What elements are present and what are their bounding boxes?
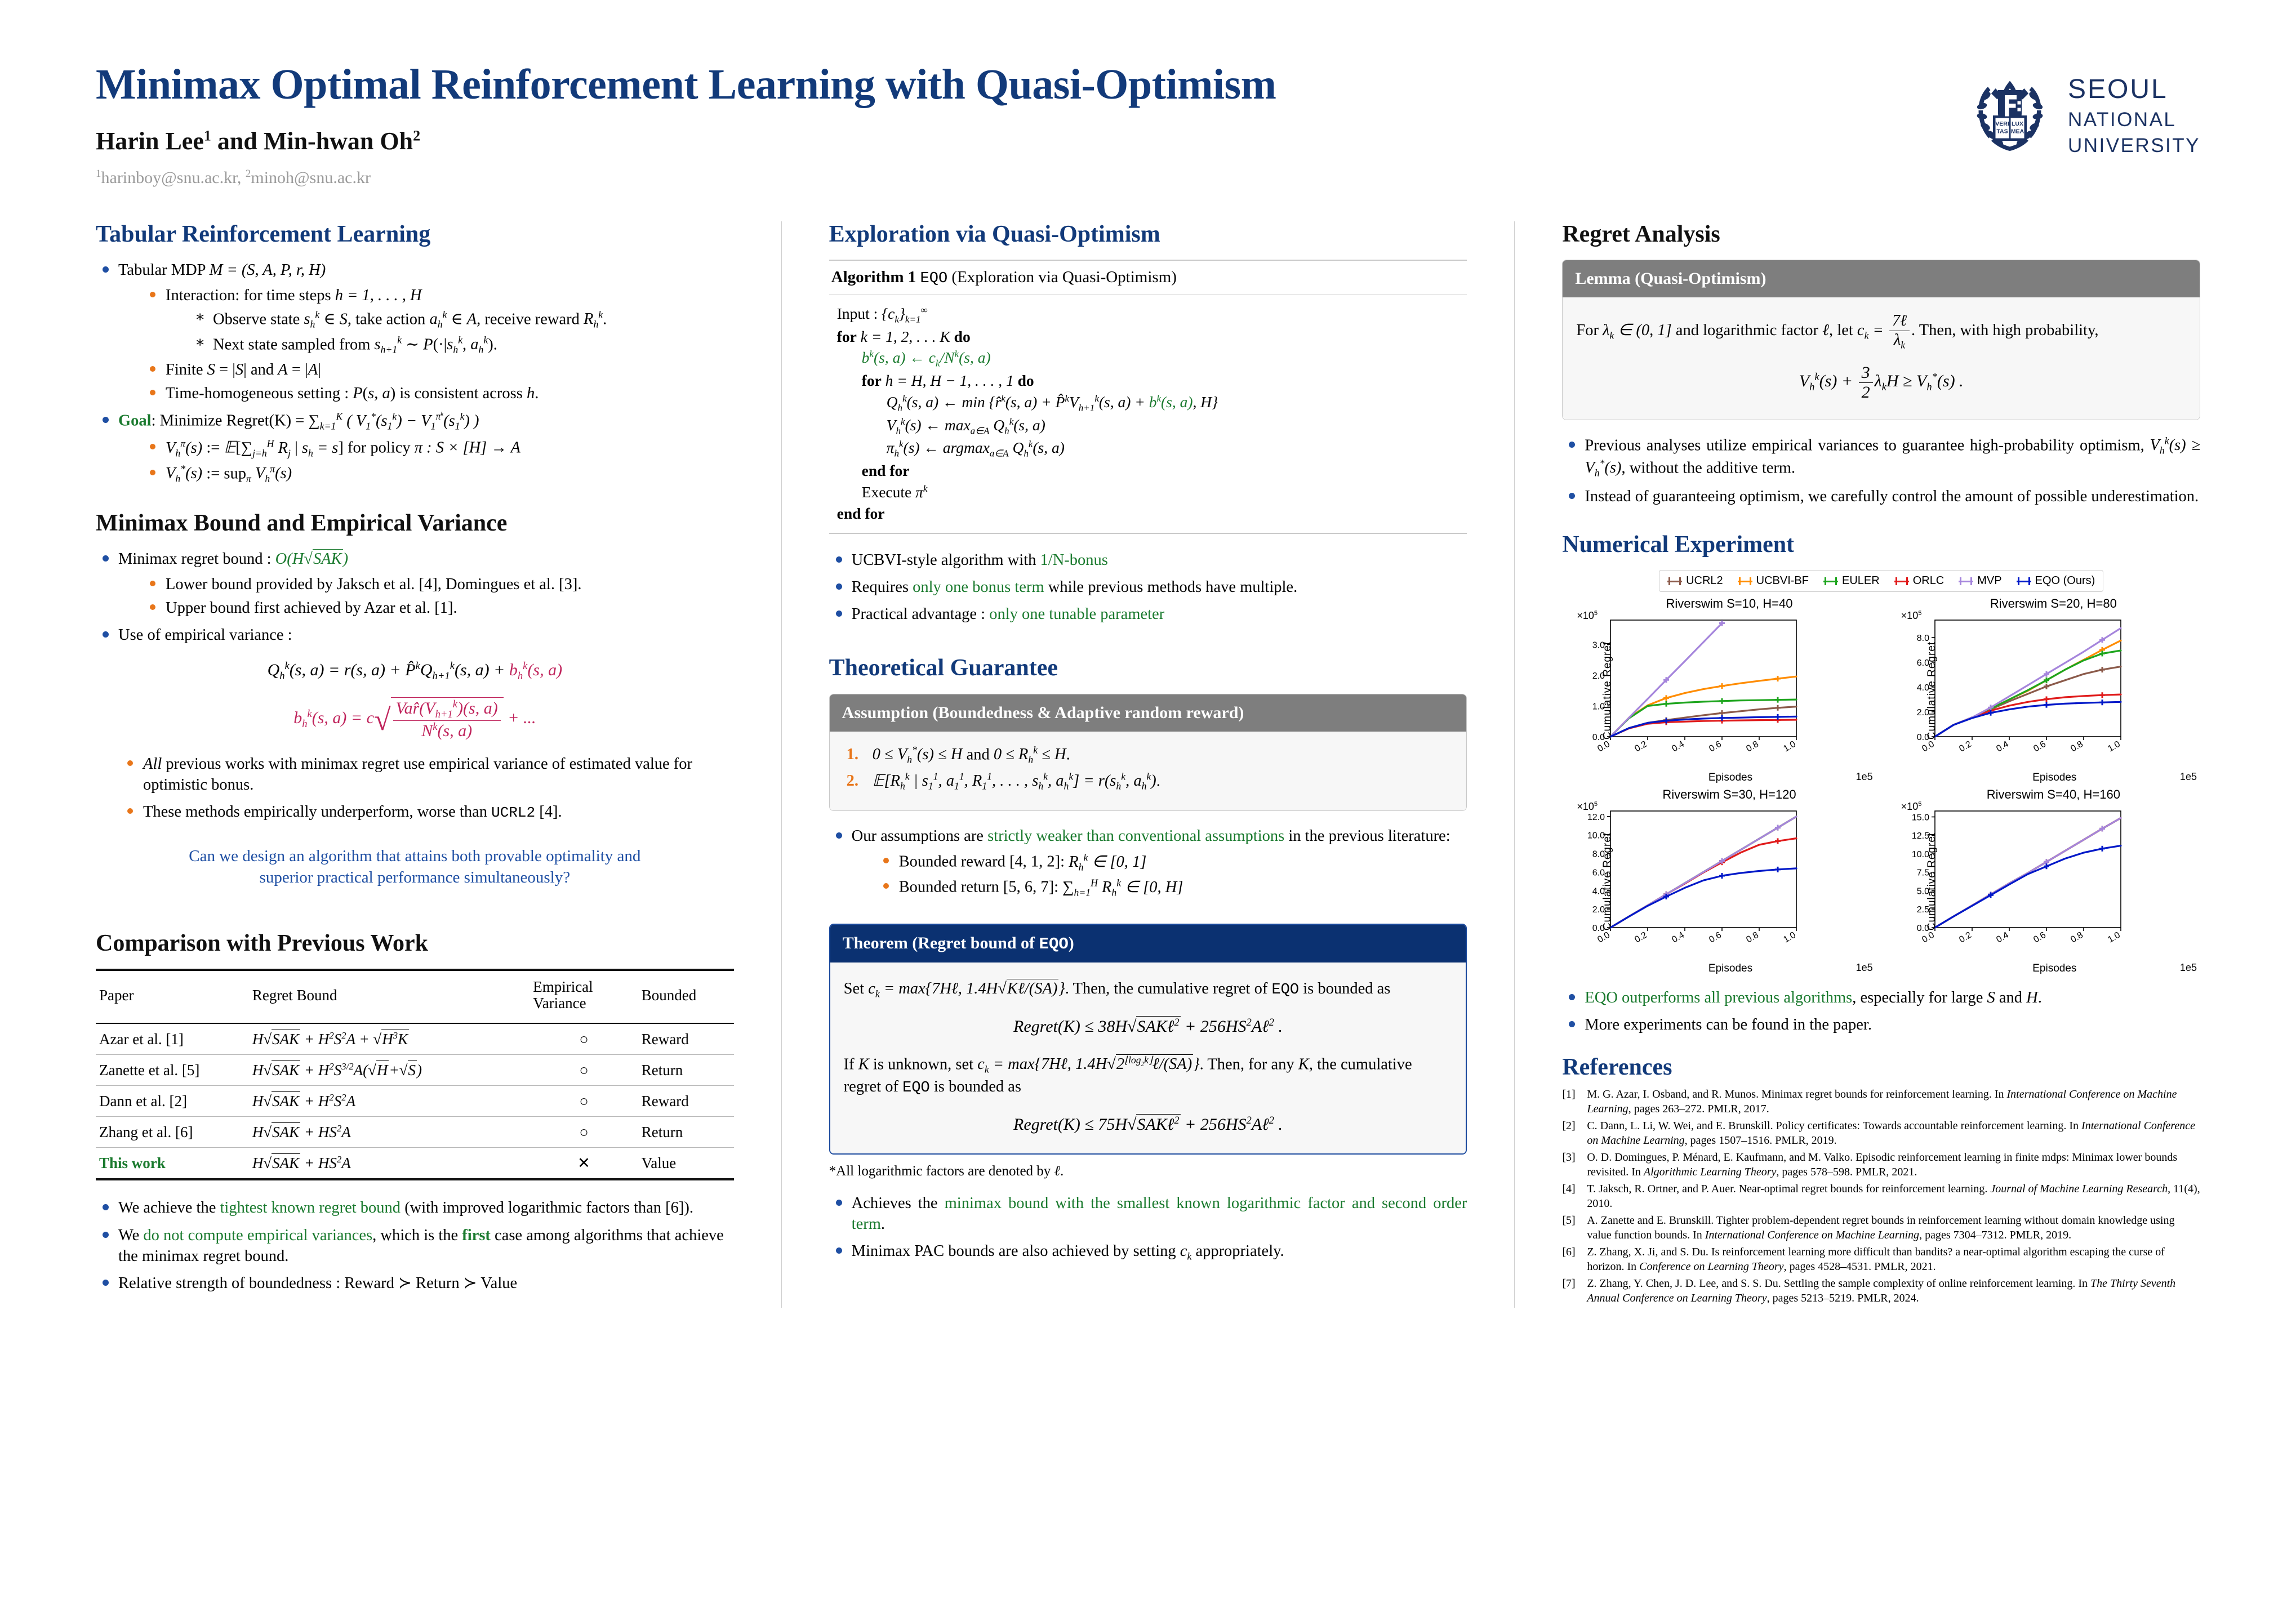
section-regret-analysis-title: Regret Analysis [1562, 221, 2200, 247]
author-1-sup: 1 [204, 127, 211, 144]
list-item: All previous works with minimax regret u… [121, 754, 734, 795]
theorem-box: Theorem (Regret bound of EQO) Set ck = m… [829, 924, 1467, 1154]
algorithm-body: Input : {ck}k=1∞ for k = 1, 2, . . . K d… [829, 295, 1467, 533]
svg-text:0.8: 0.8 [1745, 930, 1761, 945]
theorem-notes: Achieves the minimax bound with the smal… [829, 1193, 1467, 1263]
reference-tail: , pages 263–272. PMLR, 2017. [1628, 1103, 1769, 1115]
experiment-charts: UCRL2UCBVI-BFEULERORLCMVPEQO (Ours) Rive… [1562, 570, 2200, 975]
alg-line-for-k: for k = 1, 2, . . . K do [837, 326, 1465, 347]
legend-swatch-icon [1894, 576, 1909, 586]
references-list: [1]M. G. Azar, I. Osband, and R. Munos. … [1562, 1087, 2200, 1305]
legend-item-orlc: ORLC [1894, 574, 1945, 587]
chart-4: Riverswim S=40, H=160×105Cumulative Regr… [1886, 787, 2200, 975]
chart-legend: UCRL2UCBVI-BFEULERORLCMVPEQO (Ours) [1659, 570, 2103, 592]
chart-canvas: 0.00.20.40.60.81.00.01.02.03.0 [1562, 611, 1804, 772]
reference-text: Z. Zhang, Y. Chen, J. D. Lee, and S. S. … [1587, 1277, 2090, 1290]
chart-y-label: Cumulative Regret [1602, 832, 1614, 930]
reference-tail: , pages 578–598. PMLR, 2021. [1776, 1166, 1917, 1178]
alg-line-pi: πhk(s) ← argmaxa∈A Qhk(s, a) [837, 437, 1465, 460]
svg-text:0.8: 0.8 [1745, 739, 1761, 754]
chart-2: Riverswim S=20, H=80×105Cumulative Regre… [1886, 596, 2200, 784]
svg-text:0.4: 0.4 [1995, 739, 2010, 754]
interaction-sublist: Interaction: for time steps h = 1, . . .… [143, 285, 734, 404]
list-item: Instead of guaranteeing optimism, we car… [1562, 486, 2200, 507]
lemma-equation: Vhk(s) + 32λkH ≥ Vh*(s) . [1576, 363, 2186, 403]
cell-bounded: Return [638, 1117, 734, 1148]
svg-text:1.0: 1.0 [2106, 930, 2122, 945]
reference-tail: , pages 7304–7312. PMLR, 2019. [1919, 1229, 2071, 1241]
svg-text:VERI: VERI [1995, 121, 2009, 127]
reference-item: [1]M. G. Azar, I. Osband, and R. Munos. … [1562, 1087, 2200, 1116]
chart-canvas: 0.00.20.40.60.81.00.02.55.07.510.012.515… [1886, 802, 2129, 962]
lemma-header: Lemma (Quasi-Optimism) [1563, 260, 2200, 297]
table-header: Paper Regret Bound EmpiricalVariance Bou… [96, 970, 734, 1023]
list-item: Finite S = |S| and A = |A| [143, 359, 734, 380]
chart-title: Riverswim S=30, H=120 [1582, 787, 1876, 802]
legend-item-euler: EULER [1823, 574, 1880, 587]
svg-text:0.4: 0.4 [1671, 930, 1687, 945]
q-update-equation: Qhk(s, a) = r(s, a) + P̂kQh+1k(s, a) + b… [96, 660, 734, 683]
assumption-header: Assumption (Boundedness & Adaptive rando… [830, 694, 1467, 732]
svg-text:0.6: 0.6 [2032, 739, 2048, 754]
alg-line-q: Qhk(s, a) ← min {r̂k(s, a) + P̂kVh+1k(s,… [837, 391, 1465, 415]
snu-logo: VERITAS LUXMEA SEOUL NATIONAL UNIVERSITY [1968, 62, 2200, 158]
column-divider-1 [781, 221, 782, 1308]
legend-label: UCBVI-BF [1756, 574, 1809, 587]
chart-y-exponent: ×105 [1577, 801, 1598, 813]
email-1-sup: 1 [96, 168, 101, 180]
alg-line-execute: Execute πk [837, 482, 1465, 503]
chart-x-label: Episodes [1585, 772, 1876, 784]
svg-text:0.8: 0.8 [2069, 930, 2085, 945]
author-1: Harin Lee [96, 127, 204, 155]
mdp-formula: M = (S, A, P, r, H) [210, 261, 326, 279]
legend-label: EQO (Ours) [2035, 574, 2095, 587]
chart-canvas: 0.00.20.40.60.81.00.02.04.06.08.0 [1886, 611, 2129, 772]
logo-line-1: SEOUL [2068, 72, 2200, 107]
chart-x-exponent: 1e5 [1856, 962, 1873, 974]
lemma-box: Lemma (Quasi-Optimism) For λk ∈ (0, 1] a… [1562, 260, 2200, 420]
email-line: 1harinboy@snu.ac.kr, 2minoh@snu.ac.kr [96, 168, 1968, 188]
list-item: Minimax regret bound : O(H√SAK) Lower bo… [96, 549, 734, 618]
list-item: 2.𝔼[Rhk | s11, a11, R11, . . . , shk, ah… [843, 770, 1453, 793]
cell-variance: ○ [529, 1023, 638, 1055]
reference-venue: Algorithmic Learning Theory [1644, 1166, 1777, 1178]
list-item: EQO outperforms all previous algorithms,… [1562, 987, 2200, 1008]
lemma-paragraph: For λk ∈ (0, 1] and logarithmic factor ℓ… [1576, 312, 2186, 351]
theorem-equation-2: Regret(K) ≤ 75H√SAKℓ2 + 256HS2Aℓ2 . [844, 1113, 1453, 1137]
algorithm-title: Algorithm 1 EQO (Exploration via Quasi-O… [829, 261, 1467, 295]
table-row: Dann et al. [2] H√SAK + H2S2A ○ Reward [96, 1086, 734, 1117]
list-item: Our assumptions are strictly weaker than… [829, 826, 1467, 899]
list-item: Practical advantage : only one tunable p… [829, 604, 1467, 625]
reference-tail: , pages 5213–5219. PMLR, 2024. [1767, 1292, 1919, 1304]
table-row: Zanette et al. [5] H√SAK + H2S3/2A(√H+√S… [96, 1055, 734, 1086]
chart-y-exponent: ×105 [1901, 801, 1922, 813]
column-1: Tabular Reinforcement Learning Tabular M… [96, 221, 734, 1308]
svg-text:1.0: 1.0 [2106, 739, 2122, 754]
lemma-body: For λk ∈ (0, 1] and logarithmic factor ℓ… [1563, 297, 2200, 420]
svg-text:0.2: 0.2 [1957, 930, 1973, 945]
table-body: Azar et al. [1] H√SAK + H2S2A + √H3K ○ R… [96, 1023, 734, 1179]
list-item-goal: Goal: Minimize Regret(K) = ∑k=1K ( V1*(s… [96, 410, 734, 485]
minimax-sublist: Lower bound provided by Jaksch et al. [4… [143, 574, 734, 618]
reference-item: [3]O. D. Domingues, P. Ménard, E. Kaufma… [1562, 1150, 2200, 1179]
reference-text: T. Jaksch, R. Ortner, and P. Auer. Near-… [1587, 1183, 1990, 1195]
reference-venue: Journal of Machine Learning Research [1990, 1183, 2168, 1195]
list-item: Tabular MDP M = (S, A, P, r, H) Interact… [96, 260, 734, 404]
th-empirical-variance: EmpiricalVariance [529, 970, 638, 1023]
algorithm-desc: (Exploration via Quasi-Optimism) [947, 268, 1177, 286]
theorem-footnote: *All logarithmic factors are denoted by … [829, 1164, 1467, 1179]
list-item: Bounded reward [4, 1, 2]: Rhk ∈ [0, 1] [876, 851, 1467, 874]
cell-paper: Azar et al. [1] [96, 1023, 249, 1055]
alg-line-endfor-inner: end for [837, 460, 1465, 482]
algorithm-label: Algorithm 1 [831, 268, 916, 286]
chart-x-exponent: 1e5 [1856, 771, 1873, 783]
theorem-paragraph-2: If K is unknown, set ck = max{7Hℓ, 1.4H√… [844, 1053, 1453, 1099]
list-item: Relative strength of boundedness : Rewar… [96, 1273, 734, 1294]
list-item: Upper bound first achieved by Azar et al… [143, 598, 734, 618]
svg-text:LUX: LUX [2012, 121, 2023, 127]
comparison-table: Paper Regret Bound EmpiricalVariance Bou… [96, 969, 734, 1180]
reference-item: [6]Z. Zhang, X. Ji, and S. Du. Is reinfo… [1562, 1245, 2200, 1274]
assumption-box: Assumption (Boundedness & Adaptive rando… [829, 694, 1467, 811]
theorem-header: Theorem (Regret bound of EQO) [830, 925, 1466, 962]
list-item: Interaction: for time steps h = 1, . . .… [143, 285, 734, 357]
chart-title: Riverswim S=10, H=40 [1582, 596, 1876, 611]
chart-x-label: Episodes [1585, 962, 1876, 975]
alg-line-v: Vhk(s) ← maxa∈A Qhk(s, a) [837, 415, 1465, 438]
reference-item: [7]Z. Zhang, Y. Chen, J. D. Lee, and S. … [1562, 1276, 2200, 1305]
chart-1: Riverswim S=10, H=40×105Cumulative Regre… [1562, 596, 1876, 784]
table-row: Zhang et al. [6] H√SAK + HS2A ○ Return [96, 1117, 734, 1148]
reference-tag: [6] [1562, 1245, 1575, 1259]
theorem-paragraph-1: Set ck = max{7Hℓ, 1.4H√Kℓ/(SA)}. Then, t… [844, 978, 1453, 1001]
cell-paper: Zanette et al. [5] [96, 1055, 249, 1086]
legend-swatch-icon [2017, 576, 2031, 586]
svg-text:0.6: 0.6 [1708, 739, 1724, 754]
cell-bound: H√SAK + H2S2A [249, 1086, 529, 1117]
reference-item: [2]C. Dann, L. Li, W. Wei, and E. Brunsk… [1562, 1119, 2200, 1148]
logo-line-2: NATIONAL [2068, 107, 2200, 133]
table-row-highlight: This work H√SAK + HS2A ✕ Value [96, 1148, 734, 1180]
chart-title: Riverswim S=40, H=160 [1907, 787, 2200, 802]
research-question-line-1: Can we design an algorithm that attains … [115, 845, 715, 867]
svg-text:12.0: 12.0 [1587, 813, 1605, 822]
poster-root: Minimax Optimal Reinforcement Learning w… [0, 0, 2296, 1622]
reference-tag: [5] [1562, 1213, 1575, 1228]
cell-bound: H√SAK + H2S3/2A(√H+√S) [249, 1055, 529, 1086]
svg-text:1.0: 1.0 [1782, 930, 1798, 945]
empirical-variance-equations: Qhk(s, a) = r(s, a) + P̂kQh+1k(s, a) + b… [96, 660, 734, 741]
assumption-list: 1.0 ≤ Vh*(s) ≤ H and 0 ≤ Rhk ≤ H. 2.𝔼[Rh… [843, 744, 1453, 793]
research-question: Can we design an algorithm that attains … [115, 845, 715, 889]
poster-columns: Tabular Reinforcement Learning Tabular M… [96, 221, 2200, 1308]
goal-label: Goal [118, 412, 152, 430]
interaction-steps: Observe state shk ∈ S, take action ahk ∈… [190, 309, 734, 357]
section-references-title: References [1562, 1054, 2200, 1080]
alg-line-for-h: for h = H, H − 1, . . . , 1 do [837, 370, 1465, 391]
alg-line-endfor-outer: end for [837, 503, 1465, 524]
poster-header: Minimax Optimal Reinforcement Learning w… [96, 62, 2200, 188]
interaction-label: Interaction: for time steps [166, 287, 335, 304]
svg-text:0.2: 0.2 [1634, 739, 1649, 754]
list-item: These methods empirically underperform, … [121, 801, 734, 823]
section-theoretical-guarantee-title: Theoretical Guarantee [829, 655, 1467, 681]
alg-line-input: Input : {ck}k=1∞ [837, 303, 1465, 326]
legend-swatch-icon [1738, 576, 1752, 586]
section-exploration-title: Exploration via Quasi-Optimism [829, 221, 1467, 247]
svg-text:0.6: 0.6 [1708, 930, 1724, 945]
legend-label: MVP [1977, 574, 2001, 587]
legend-swatch-icon [1823, 576, 1838, 586]
author-conjunction: and [211, 127, 264, 155]
goal-sublist: Vhπ(s) := 𝔼[∑j=hH Rj | sh = s] for polic… [143, 437, 734, 485]
bonus-equation: bhk(s, a) = c√Var̂(Vh+1k)(s, a)Nk(s, a) … [96, 697, 734, 741]
chart-3: Riverswim S=30, H=120×105Cumulative Regr… [1562, 787, 1876, 975]
assumption-notes: Our assumptions are strictly weaker than… [829, 826, 1467, 899]
list-item: Lower bound provided by Jaksch et al. [4… [143, 574, 734, 595]
th-regret-bound: Regret Bound [249, 970, 529, 1023]
cell-variance: ✕ [529, 1148, 638, 1180]
cell-bounded: Return [638, 1055, 734, 1086]
list-item: Use of empirical variance : [96, 625, 734, 645]
list-item: We do not compute empirical variances, w… [96, 1225, 734, 1267]
svg-text:0.6: 0.6 [2032, 930, 2048, 945]
legend-swatch-icon [1959, 576, 1973, 586]
list-item: Next state sampled from sh+1k ∼ P(·|shk,… [190, 334, 734, 357]
regret-analysis-notes: Previous analyses utilize empirical vari… [1562, 435, 2200, 507]
legend-label: EULER [1842, 574, 1880, 587]
chart-y-label: Cumulative Regret [1602, 641, 1614, 739]
alg-line-bonus: bk(s, a) ← ck/Nk(s, a) [837, 347, 1465, 370]
list-item: Achieves the minimax bound with the smal… [829, 1193, 1467, 1235]
list-item: UCBVI-style algorithm with 1/N-bonus [829, 550, 1467, 571]
list-item: 1.0 ≤ Vh*(s) ≤ H and 0 ≤ Rhk ≤ H. [843, 744, 1453, 767]
reference-venue: International Conference on Machine Lear… [1705, 1229, 1919, 1241]
author-2-sup: 2 [413, 127, 420, 144]
cell-variance: ○ [529, 1055, 638, 1086]
list-item: Bounded return [5, 6, 7]: ∑h=1H Rhk ∈ [0… [876, 876, 1467, 899]
assumption-body: 1.0 ≤ Vh*(s) ≤ H and 0 ≤ Rhk ≤ H. 2.𝔼[Rh… [830, 732, 1467, 810]
reference-tag: [1] [1562, 1087, 1575, 1102]
cell-bounded: Reward [638, 1086, 734, 1117]
svg-text:0.8: 0.8 [2069, 739, 2085, 754]
variance-notes: All previous works with minimax regret u… [121, 754, 734, 823]
page-title: Minimax Optimal Reinforcement Learning w… [96, 62, 1968, 108]
section-minimax-bound-title: Minimax Bound and Empirical Variance [96, 510, 734, 536]
chart-y-label: Cumulative Regret [1926, 641, 1938, 739]
list-item: Observe state shk ∈ S, take action ahk ∈… [190, 309, 734, 331]
chart-x-exponent: 1e5 [2180, 771, 2197, 783]
section-comparison-title: Comparison with Previous Work [96, 930, 734, 956]
chart-x-label: Episodes [1909, 772, 2200, 784]
email-2-sup: 2 [246, 168, 251, 180]
assumption-compare-list: Bounded reward [4, 1, 2]: Rhk ∈ [0, 1] B… [876, 851, 1467, 899]
cell-bound: H√SAK + HS2A [249, 1117, 529, 1148]
svg-text:0.2: 0.2 [1634, 930, 1649, 945]
algorithm-notes: UCBVI-style algorithm with 1/N-bonus Req… [829, 550, 1467, 625]
section-tabular-rl-title: Tabular Reinforcement Learning [96, 221, 734, 247]
comparison-findings: We achieve the tightest known regret bou… [96, 1197, 734, 1293]
list-item: More experiments can be found in the pap… [1562, 1014, 2200, 1035]
svg-text:0.4: 0.4 [1995, 930, 2010, 945]
goal-text: : Minimize Regret(K) = [152, 412, 309, 430]
list-item: We achieve the tightest known regret bou… [96, 1197, 734, 1218]
author-line: Harin Lee1 and Min-hwan Oh2 [96, 127, 1968, 155]
chart-y-label: Cumulative Regret [1926, 832, 1938, 930]
chart-grid: Riverswim S=10, H=40×105Cumulative Regre… [1562, 596, 2200, 975]
chart-x-exponent: 1e5 [2180, 962, 2197, 974]
legend-item-ucrl2: UCRL2 [1667, 574, 1723, 587]
research-question-line-2: superior practical performance simultane… [115, 867, 715, 889]
svg-text:TAS: TAS [1996, 128, 2008, 135]
reference-item: [5]A. Zanette and E. Brunskill. Tighter … [1562, 1213, 2200, 1242]
minimax-label: Minimax regret bound : [118, 550, 275, 568]
list-item: Time-homogeneous setting : P(s, a) is co… [143, 383, 734, 404]
list-item: Vh*(s) := supπ Vhπ(s) [143, 463, 734, 485]
legend-label: UCRL2 [1686, 574, 1723, 587]
column-divider-2 [1514, 221, 1515, 1308]
mdp-label: Tabular MDP [118, 261, 210, 279]
tabular-rl-bullets: Tabular MDP M = (S, A, P, r, H) Interact… [96, 260, 734, 485]
reference-venue: Conference on Learning Theory [1639, 1260, 1783, 1273]
reference-tail: , pages 1507–1516. PMLR, 2019. [1685, 1134, 1837, 1147]
legend-item-eqo-ours: EQO (Ours) [2017, 574, 2095, 587]
chart-canvas: 0.00.20.40.60.81.00.02.04.06.08.010.012.… [1562, 802, 1804, 962]
theorem-equation-1: Regret(K) ≤ 38H√SAKℓ2 + 256HS2Aℓ2 . [844, 1015, 1453, 1039]
th-bounded: Bounded [638, 970, 734, 1023]
theorem-body: Set ck = max{7Hℓ, 1.4H√Kℓ/(SA)}. Then, t… [830, 962, 1466, 1153]
svg-text:MEA: MEA [2011, 128, 2024, 135]
reference-tail: , pages 4528–4531. PMLR, 2021. [1784, 1260, 1936, 1273]
column-2: Exploration via Quasi-Optimism Algorithm… [829, 221, 1467, 1308]
legend-item-ucbvi-bf: UCBVI-BF [1738, 574, 1809, 587]
svg-text:15.0: 15.0 [1912, 813, 1929, 823]
legend-swatch-icon [1667, 576, 1682, 586]
svg-text:0.4: 0.4 [1671, 739, 1687, 754]
chart-legend-row: UCRL2UCBVI-BFEULERORLCMVPEQO (Ours) [1562, 570, 2200, 596]
list-item: Previous analyses utilize empirical vari… [1562, 435, 2200, 480]
svg-text:1.0: 1.0 [1782, 739, 1798, 754]
logo-line-3: UNIVERSITY [2068, 133, 2200, 159]
list-item: Requires only one bonus term while previ… [829, 577, 1467, 598]
algorithm-box: Algorithm 1 EQO (Exploration via Quasi-O… [829, 260, 1467, 534]
snu-crest-icon: VERITAS LUXMEA [1968, 73, 2052, 158]
reference-item: [4]T. Jaksch, R. Ortner, and P. Auer. Ne… [1562, 1182, 2200, 1211]
reference-tag: [7] [1562, 1276, 1575, 1291]
chart-y-exponent: ×105 [1901, 610, 1922, 622]
chart-y-exponent: ×105 [1577, 610, 1598, 622]
section-numerical-experiment-title: Numerical Experiment [1562, 532, 2200, 558]
minimax-bullets: Minimax regret bound : O(H√SAK) Lower bo… [96, 549, 734, 645]
cell-bounded: Value [638, 1148, 734, 1180]
reference-text: M. G. Azar, I. Osband, and R. Munos. Min… [1587, 1088, 2006, 1100]
cell-bound: H√SAK + HS2A [249, 1148, 529, 1180]
th-paper: Paper [96, 970, 249, 1023]
table-row: Azar et al. [1] H√SAK + H2S2A + √H3K ○ R… [96, 1023, 734, 1055]
legend-label: ORLC [1913, 574, 1945, 587]
goal-formula: ∑k=1K ( V1*(s1k) − V1πk(s1k) ) [308, 412, 479, 430]
chart-x-label: Episodes [1909, 962, 2200, 975]
algorithm-name: EQO [920, 270, 948, 287]
experiment-findings: EQO outperforms all previous algorithms,… [1562, 987, 2200, 1035]
column-3: Regret Analysis Lemma (Quasi-Optimism) F… [1562, 221, 2200, 1308]
svg-text:0.2: 0.2 [1957, 739, 1973, 754]
cell-paper: Dann et al. [2] [96, 1086, 249, 1117]
cell-bound: H√SAK + H2S2A + √H3K [249, 1023, 529, 1055]
legend-item-mvp: MVP [1959, 574, 2001, 587]
minimax-bound-formula: O(H√SAK) [275, 549, 348, 568]
email-2[interactable]: minoh@snu.ac.kr [251, 168, 371, 187]
header-text-block: Minimax Optimal Reinforcement Learning w… [96, 62, 1968, 188]
list-item: Vhπ(s) := 𝔼[∑j=hH Rj | sh = s] for polic… [143, 437, 734, 460]
email-1[interactable]: harinboy@snu.ac.kr, [101, 168, 246, 187]
reference-tag: [2] [1562, 1119, 1575, 1133]
reference-tag: [4] [1562, 1182, 1575, 1196]
cell-variance: ○ [529, 1086, 638, 1117]
reference-tag: [3] [1562, 1150, 1575, 1165]
cell-bounded: Reward [638, 1023, 734, 1055]
snu-logo-text: SEOUL NATIONAL UNIVERSITY [2068, 72, 2200, 158]
chart-title: Riverswim S=20, H=80 [1907, 596, 2200, 611]
cell-paper: Zhang et al. [6] [96, 1117, 249, 1148]
list-item: Minimax PAC bounds are also achieved by … [829, 1241, 1467, 1263]
author-2: Min-hwan Oh [264, 127, 413, 155]
reference-text: C. Dann, L. Li, W. Wei, and E. Brunskill… [1587, 1120, 2081, 1132]
cell-paper: This work [96, 1148, 249, 1180]
cell-variance: ○ [529, 1117, 638, 1148]
